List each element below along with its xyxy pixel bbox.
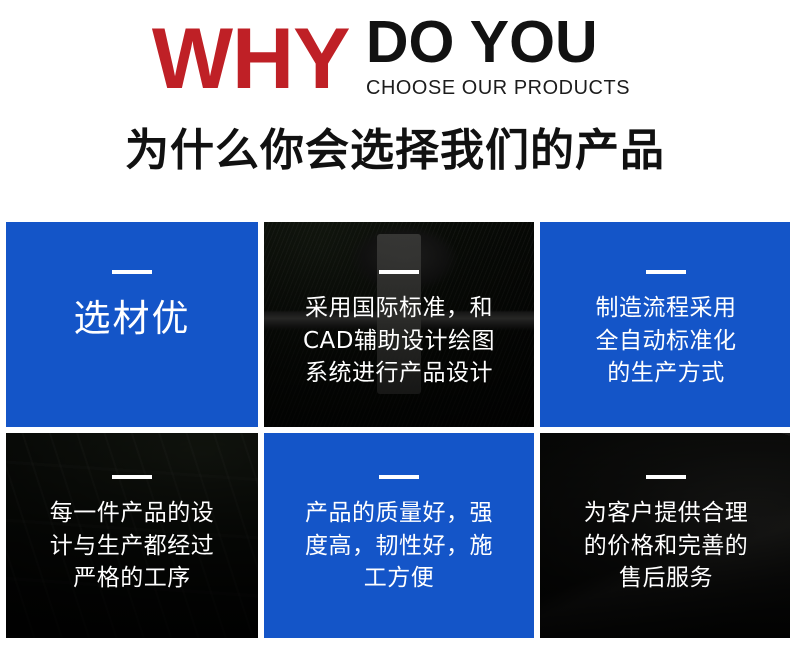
rule-divider-icon [646,475,686,479]
advantages-grid: 选材优 采用国际标准，和 CAD辅助设计绘图 系统进行产品设计 制造流程采用 全… [6,222,780,638]
advantage-card-4: 每一件产品的设 计与生产都经过 严格的工序 [6,433,258,638]
advantage-card-1-text: 选材优 [64,296,201,342]
product-advantages-banner: WHY DO YOU CHOOSE OUR PRODUCTS 为什么你会选择我们… [0,0,790,665]
headline-right-stack: DO YOU CHOOSE OUR PRODUCTS [366,14,638,100]
subtitle-chinese: 为什么你会选择我们的产品 [0,126,790,177]
headline-doyou-text: DO YOU [366,14,638,72]
banner-header: WHY DO YOU CHOOSE OUR PRODUCTS 为什么你会选择我们… [0,0,790,200]
advantage-card-5-text: 产品的质量好，强 度高，韧性好，施 工方便 [295,497,503,595]
rule-divider-icon [112,475,152,479]
advantage-card-3-text: 制造流程采用 全自动标准化 的生产方式 [586,292,747,390]
advantage-card-5: 产品的质量好，强 度高，韧性好，施 工方便 [264,433,534,638]
advantage-card-6-text: 为客户提供合理 的价格和完善的 售后服务 [574,497,759,595]
advantage-card-2-text: 采用国际标准，和 CAD辅助设计绘图 系统进行产品设计 [293,292,505,390]
advantage-card-1: 选材优 [6,222,258,427]
rule-divider-icon [379,270,419,274]
headline-inner: WHY DO YOU CHOOSE OUR PRODUCTS [152,14,638,100]
advantage-card-4-text: 每一件产品的设 计与生产都经过 严格的工序 [40,497,225,595]
rule-divider-icon [379,475,419,479]
headline-choose-our-products-text: CHOOSE OUR PRODUCTS [366,75,630,101]
rule-divider-icon [112,270,152,274]
advantage-card-2: 采用国际标准，和 CAD辅助设计绘图 系统进行产品设计 [264,222,534,427]
advantage-card-6: 为客户提供合理 的价格和完善的 售后服务 [540,433,790,638]
headline-why-text: WHY [152,19,350,101]
advantage-card-3: 制造流程采用 全自动标准化 的生产方式 [540,222,790,427]
rule-divider-icon [646,270,686,274]
headline-block: WHY DO YOU CHOOSE OUR PRODUCTS [0,14,790,100]
